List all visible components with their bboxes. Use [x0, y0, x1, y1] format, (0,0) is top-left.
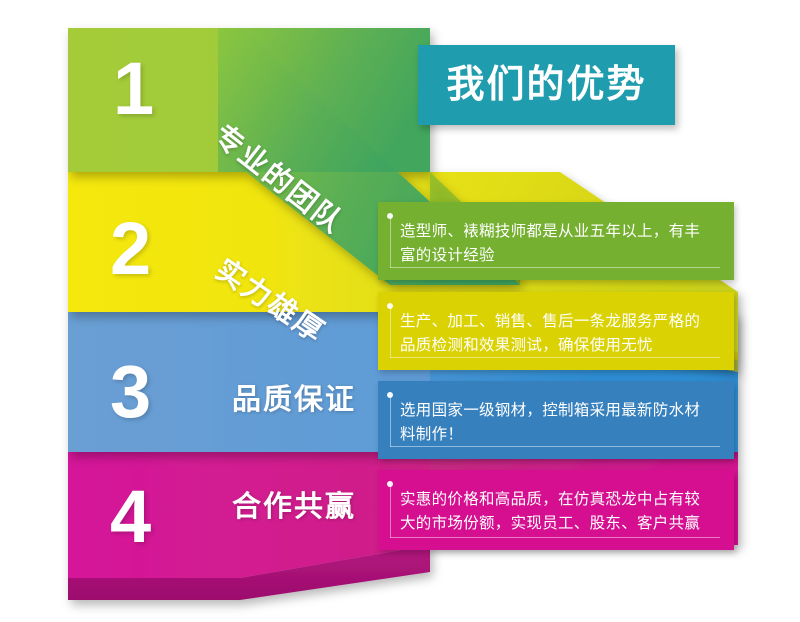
bracket-line-horizontal [390, 357, 720, 358]
step-number-1: 1 [113, 52, 154, 126]
content-panel-4: 实惠的价格和高品质，在仿真恐龙中占有较大的市场份额，实现员工、股东、客户共赢 [378, 470, 734, 550]
bracket-line-vertical [390, 395, 391, 447]
bracket-line-horizontal [390, 537, 720, 538]
bracket-line-vertical [390, 306, 391, 358]
bracket-line-horizontal [390, 267, 720, 268]
bullet-dot-icon [387, 303, 393, 309]
ribbon-label-4: 合作共赢 [232, 483, 356, 525]
step-number-2: 2 [110, 212, 151, 286]
step-number-3: 3 [110, 355, 151, 429]
bracket-line-vertical [390, 484, 391, 538]
advantages-infographic: 我们的优势 1 2 3 4 专业的团队 实力雄厚 品质保证 合作共赢 造型师、裱… [0, 0, 800, 622]
content-panel-text-3: 选用国家一级钢材，控制箱采用最新防水材料制作！ [400, 399, 714, 447]
content-panel-3: 选用国家一级钢材，控制箱采用最新防水材料制作！ [378, 381, 734, 459]
bracket-line-horizontal [390, 446, 720, 447]
bullet-dot-icon [387, 213, 393, 219]
content-panel-text-1: 造型师、裱糊技师都是从业五年以上，有丰富的设计经验 [400, 220, 714, 268]
step-number-4: 4 [110, 480, 151, 554]
content-panel-text-4: 实惠的价格和高品质，在仿真恐龙中占有较大的市场份额，实现员工、股东、客户共赢 [400, 488, 714, 536]
content-panel-text-2: 生产、加工、销售、售后一条龙服务严格的品质检测和效果测试，确保使用无忧 [400, 310, 714, 358]
content-panel-2: 生产、加工、销售、售后一条龙服务严格的品质检测和效果测试，确保使用无忧 [378, 292, 734, 370]
title-banner: 我们的优势 [418, 45, 675, 125]
page-title: 我们的优势 [446, 66, 646, 104]
bullet-dot-icon [387, 392, 393, 398]
content-panel-1: 造型师、裱糊技师都是从业五年以上，有丰富的设计经验 [378, 202, 734, 280]
bullet-dot-icon [387, 481, 393, 487]
ribbon-label-3: 品质保证 [232, 376, 356, 418]
bracket-line-vertical [390, 216, 391, 268]
